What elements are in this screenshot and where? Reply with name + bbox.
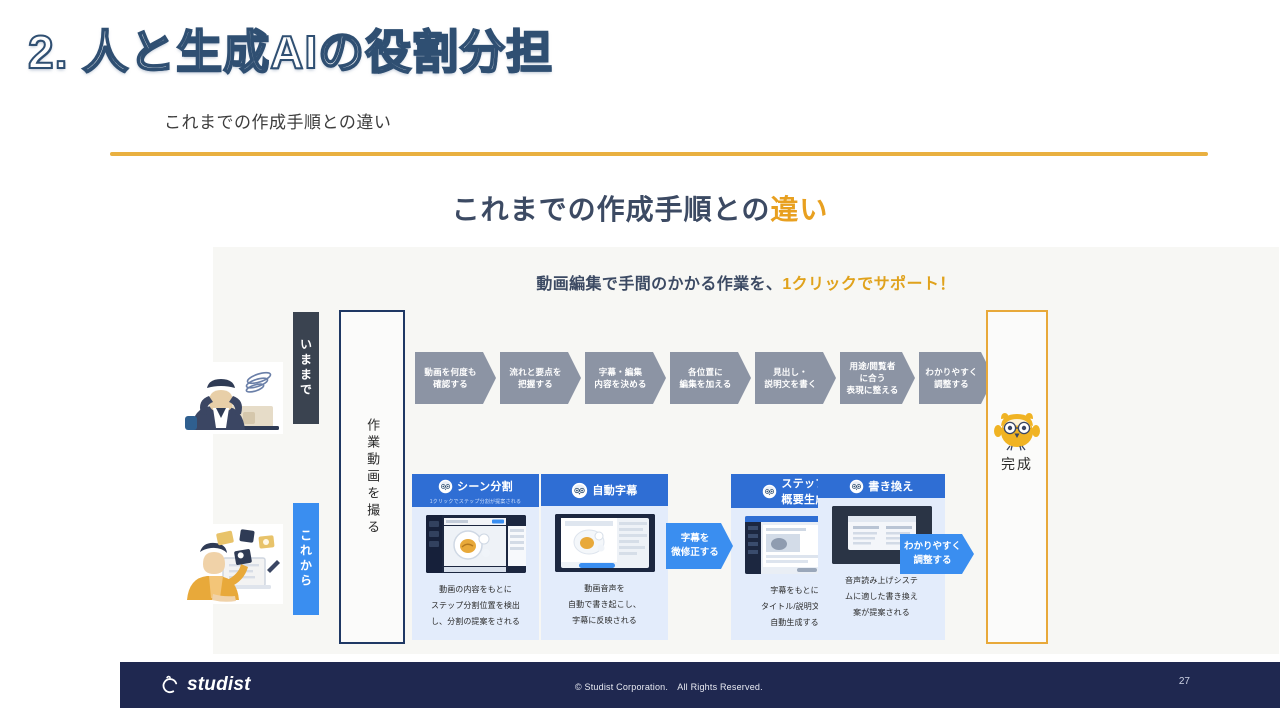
step-3-line1: 字幕・編集 (594, 366, 646, 378)
feature-card-scene-split-body-line3: し、分割の提案をされる (431, 614, 520, 630)
step-2-line2: 把握する (509, 378, 561, 390)
step-6-line2: に合う (847, 372, 899, 384)
step-chevron-1: 動画を何度も 確認する (415, 352, 496, 404)
feature-card-scene-split-thumbnail (426, 515, 526, 573)
page-title: 2. 人と生成AIの役割分担 (28, 16, 553, 82)
feature-card-rewrite-header: 書き換え (818, 474, 945, 498)
studist-mark-icon (160, 675, 180, 695)
step-chevron-4: 各位置に 編集を加える (670, 352, 751, 404)
step-6-line3: 表現に整える (847, 384, 899, 396)
blue-arrow-subtitle-fix-line1: 字幕を (671, 532, 719, 546)
feature-card-rewrite-body-line2: ムに適した書き換え (845, 589, 918, 605)
owl-icon (849, 479, 864, 494)
step-1-line2: 確認する (424, 378, 476, 390)
feature-card-rewrite-body: 音声読み上げシステ ムに適した書き換え 案が提案される (845, 573, 918, 621)
step-chevron-7: わかりやすく 調整する (919, 352, 994, 404)
step-7-line2: 調整する (925, 378, 977, 390)
feature-card-auto-subtitle-body-line3: 字幕に反映される (568, 613, 641, 629)
feature-card-scene-split-header: シーン分割 (412, 474, 539, 498)
step-5-line2: 説明文を書く (764, 378, 816, 390)
step-7-line1: わかりやすく (925, 366, 977, 378)
feature-card-scene-split-title: シーン分割 (457, 478, 513, 494)
step-4-line1: 各位置に (680, 366, 732, 378)
phase-tab-next-label: これから (298, 529, 315, 589)
feature-card-rewrite-title: 書き換え (868, 478, 913, 494)
feature-card-auto-subtitle-header: 自動字幕 (541, 474, 668, 506)
feature-card-scene-split-body: 動画の内容をもとに ステップ分割位置を検出 し、分割の提案をされる (431, 582, 520, 630)
owl-icon (762, 484, 777, 499)
feature-card-auto-subtitle-title: 自動字幕 (592, 482, 637, 498)
content-title-highlight: 違い (770, 194, 828, 225)
feature-card-auto-subtitle-thumbnail (555, 514, 655, 572)
feature-card-scene-split[interactable]: シーン分割 1クリックでステップ分割が提案される 動画の内容をも (412, 474, 539, 640)
step-chevron-3: 字幕・編集 内容を決める (585, 352, 666, 404)
step-3-line2: 内容を決める (594, 378, 646, 390)
owl-mascot-icon (994, 408, 1040, 452)
studist-brand-text: studist (187, 674, 251, 696)
feature-card-scene-split-body-line2: ステップ分割位置を検出 (431, 598, 520, 614)
feature-card-scene-split-body-line1: 動画の内容をもとに (431, 582, 520, 598)
page-subtitle: これまでの作成手順との違い (164, 108, 391, 133)
feature-card-rewrite-body-line3: 案が提案される (845, 605, 918, 621)
slide-footer: studist © Studist Corporation. All Right… (120, 662, 1280, 708)
step-2-line1: 流れと要点を (509, 366, 561, 378)
footer-copyright: © Studist Corporation. All Rights Reserv… (575, 680, 763, 693)
feature-card-scene-split-subtitle: 1クリックでステップ分割が提案される (412, 498, 539, 507)
owl-icon (438, 479, 453, 494)
step-4-line2: 編集を加える (680, 378, 732, 390)
feature-card-auto-subtitle-body: 動画音声を 自動で書き起こし、 字幕に反映される (568, 581, 641, 629)
blue-arrow-clarity-adjust-line2: 調整する (904, 554, 961, 568)
shoot-video-label: 作業動画を撮る (362, 418, 382, 537)
blue-arrow-subtitle-fix-line2: 微修正する (671, 546, 719, 560)
shoot-video-box: 作業動画を撮る (339, 310, 405, 644)
completion-box: 完成 (986, 310, 1048, 644)
completion-content: 完成 (988, 408, 1046, 474)
panel-heading-plain: 動画編集で手間のかかる作業を、 (536, 276, 782, 293)
title-divider (110, 152, 1208, 156)
footer-page-number: 27 (1179, 676, 1190, 687)
phase-tab-next: これから (293, 503, 319, 615)
blue-arrow-clarity-adjust: わかりやすく 調整する (900, 534, 974, 574)
step-chevron-6: 用途/閲覧者 に合う 表現に整える (840, 352, 915, 404)
phase-tab-now-label: いままで (298, 338, 315, 398)
blue-arrow-clarity-adjust-line1: わかりやすく (904, 540, 961, 554)
blue-arrow-subtitle-fix: 字幕を 微修正する (666, 523, 733, 569)
owl-icon (571, 482, 588, 499)
feature-card-auto-subtitle[interactable]: 自動字幕 動画音声を 自動で書き起こし、 字幕に反映される (541, 474, 668, 640)
step-1-line1: 動画を何度も (424, 366, 476, 378)
panel-heading-highlight: 1クリックでサポート！ (782, 276, 955, 293)
step-chevron-2: 流れと要点を 把握する (500, 352, 581, 404)
content-title-plain: これまでの作成手順との (452, 194, 771, 225)
step-chevron-5: 見出し・ 説明文を書く (755, 352, 836, 404)
panel-heading: 動画編集で手間のかかる作業を、1クリックでサポート！ (213, 270, 1279, 294)
feature-card-rewrite-body-line1: 音声読み上げシステ (845, 573, 918, 589)
completion-label: 完成 (988, 454, 1046, 474)
phase-tab-now: いままで (293, 312, 319, 424)
feature-card-auto-subtitle-body-line2: 自動で書き起こし、 (568, 597, 641, 613)
studist-logo: studist (160, 674, 251, 696)
feature-card-auto-subtitle-body-line1: 動画音声を (568, 581, 641, 597)
step-6-line1: 用途/閲覧者 (847, 360, 899, 372)
step-5-line1: 見出し・ (764, 366, 816, 378)
content-title: これまでの作成手順との違い (0, 188, 1280, 228)
illustration-happy-creator (183, 524, 283, 604)
illustration-stressed-worker (183, 362, 283, 434)
